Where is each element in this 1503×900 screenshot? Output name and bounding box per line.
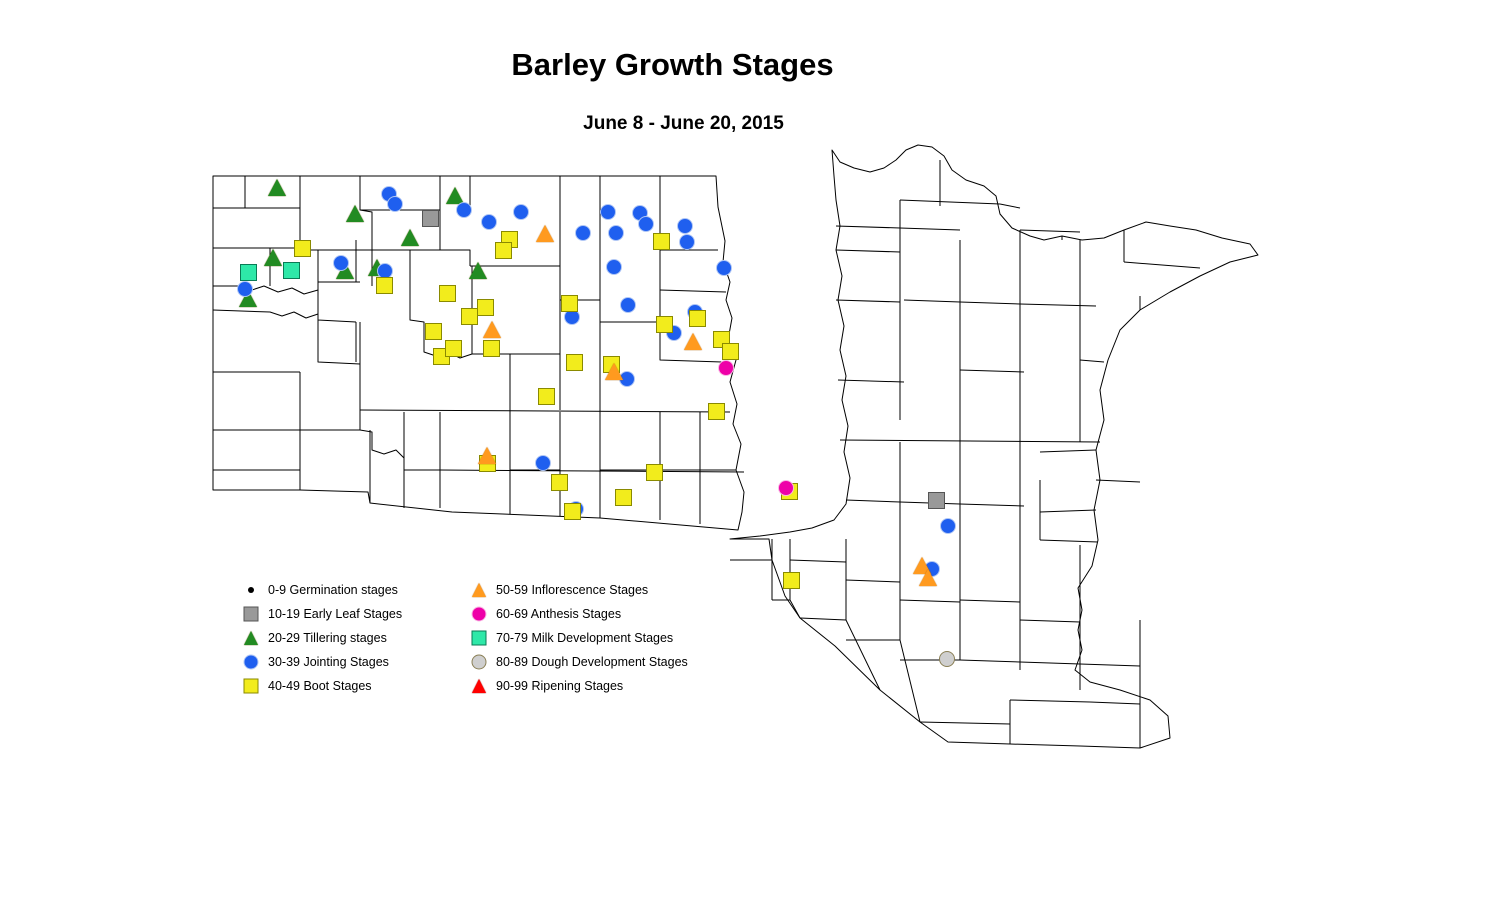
legend-column-right: 50-59 Inflorescence Stages60-69 Anthesis… <box>468 578 688 698</box>
legend-item-label: 40-49 Boot Stages <box>268 679 372 693</box>
circle-marker-blue <box>240 651 262 673</box>
map-page: Barley Growth Stages June 8 - June 20, 2… <box>0 0 1503 900</box>
square-marker-springgreen <box>468 627 490 649</box>
legend-item-l1[interactable]: 10-19 Early Leaf Stages <box>240 602 402 626</box>
state-county-map <box>0 0 1503 900</box>
legend-item-label: 10-19 Early Leaf Stages <box>268 607 402 621</box>
legend-item-label: 50-59 Inflorescence Stages <box>496 583 648 597</box>
square-marker-yellow <box>240 675 262 697</box>
legend-item-r4[interactable]: 90-99 Ripening Stages <box>468 674 688 698</box>
legend-item-label: 30-39 Jointing Stages <box>268 655 389 669</box>
legend-item-l3[interactable]: 30-39 Jointing Stages <box>240 650 402 674</box>
legend-item-l2[interactable]: 20-29 Tillering stages <box>240 626 402 650</box>
legend-item-label: 0-9 Germination stages <box>268 583 398 597</box>
dot-marker-black <box>240 579 262 601</box>
legend-item-l4[interactable]: 40-49 Boot Stages <box>240 674 402 698</box>
legend-item-label: 70-79 Milk Development Stages <box>496 631 673 645</box>
square-marker-gray <box>240 603 262 625</box>
legend-item-label: 90-99 Ripening Stages <box>496 679 623 693</box>
legend-item-r2[interactable]: 70-79 Milk Development Stages <box>468 626 688 650</box>
triangle-marker-orange <box>468 579 490 601</box>
legend-item-r0[interactable]: 50-59 Inflorescence Stages <box>468 578 688 602</box>
legend-item-r1[interactable]: 60-69 Anthesis Stages <box>468 602 688 626</box>
legend-item-label: 80-89 Dough Development Stages <box>496 655 688 669</box>
circle-marker-magenta <box>468 603 490 625</box>
legend-column-left: 0-9 Germination stages10-19 Early Leaf S… <box>240 578 402 698</box>
legend-item-label: 20-29 Tillering stages <box>268 631 387 645</box>
legend-item-r3[interactable]: 80-89 Dough Development Stages <box>468 650 688 674</box>
legend: 0-9 Germination stages10-19 Early Leaf S… <box>240 578 710 702</box>
circle-marker-lightgray <box>468 651 490 673</box>
legend-item-l0[interactable]: 0-9 Germination stages <box>240 578 402 602</box>
legend-item-label: 60-69 Anthesis Stages <box>496 607 621 621</box>
triangle-marker-green <box>240 627 262 649</box>
map-canvas[interactable] <box>0 0 1503 900</box>
triangle-marker-red <box>468 675 490 697</box>
